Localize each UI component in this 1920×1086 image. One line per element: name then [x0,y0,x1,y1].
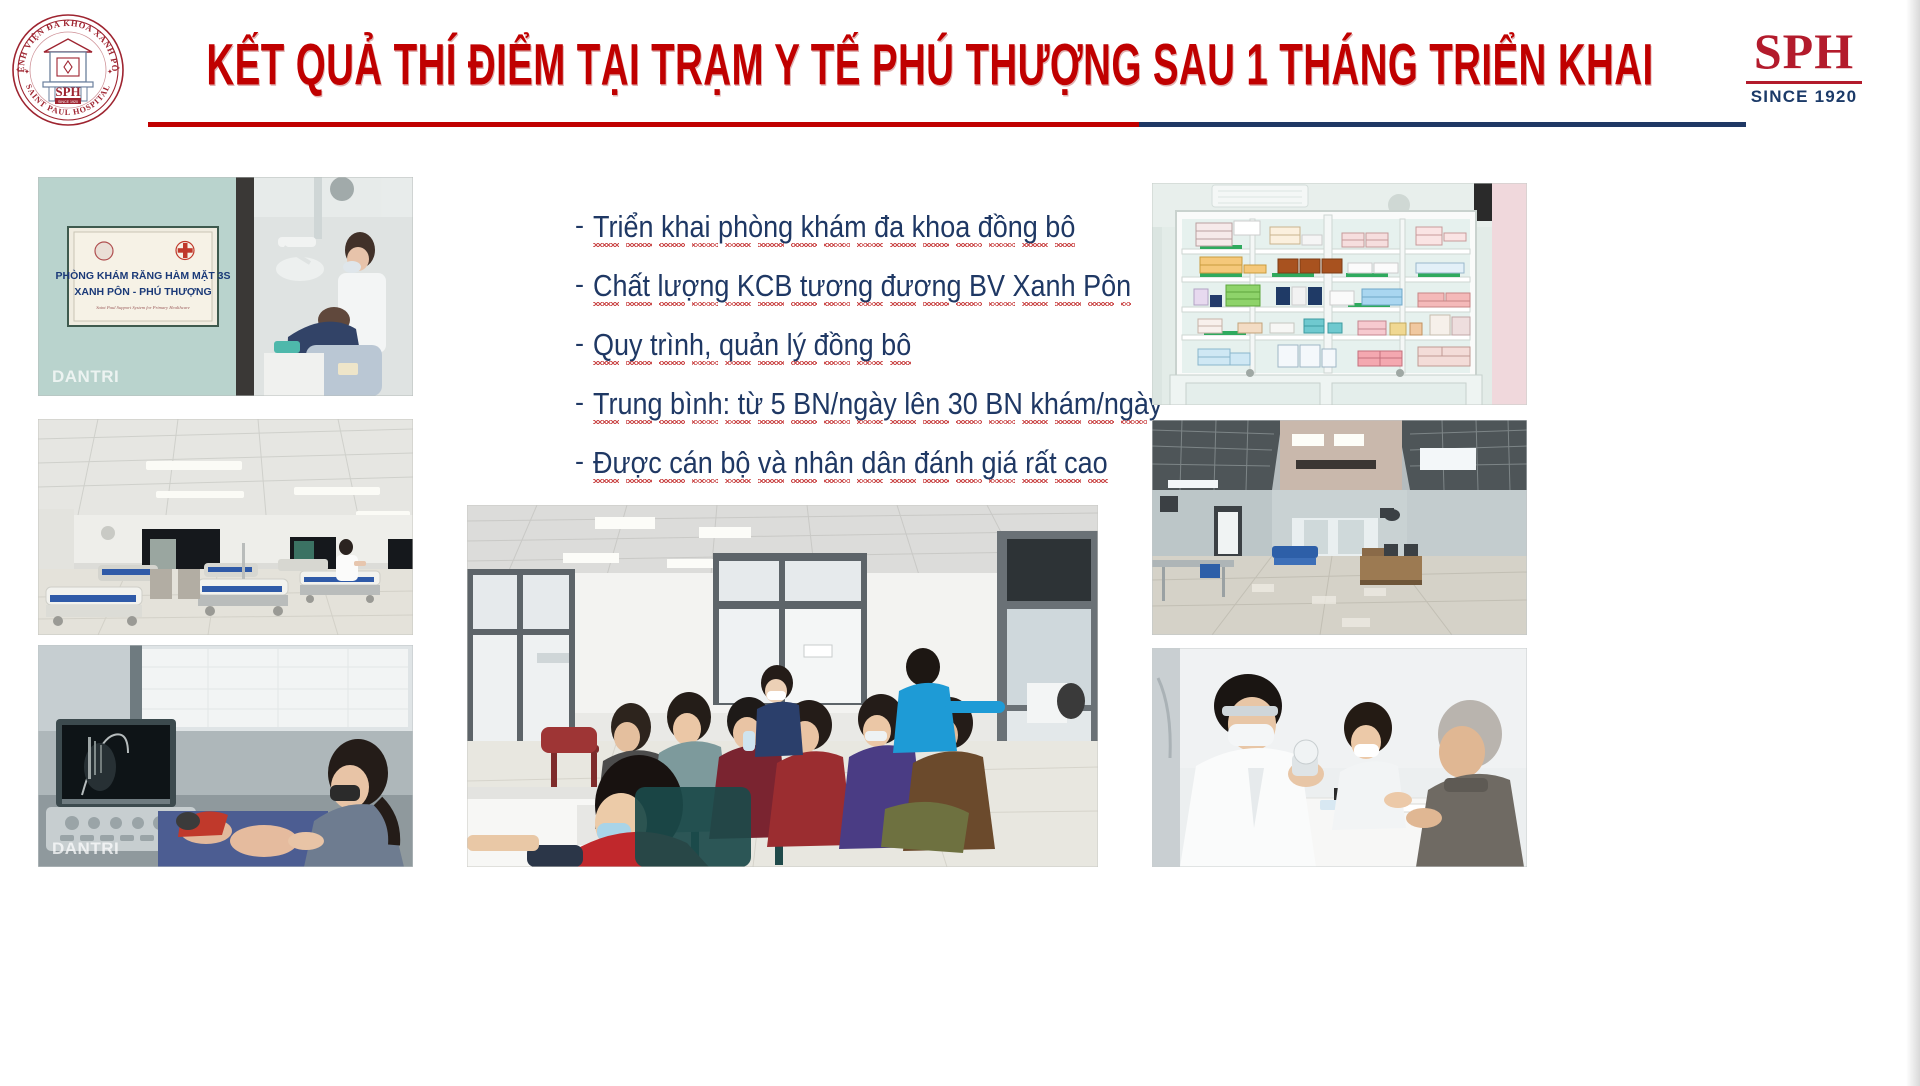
slide-right-edge [1906,0,1920,1086]
svg-text:SINCE 1920: SINCE 1920 [58,100,78,104]
bullet-dash: - [575,208,584,242]
sph-mark-text: SPH [1744,26,1864,76]
bullet-dash: - [575,385,584,419]
spellcheck-underline [593,479,1108,483]
bullet-text: Quy trình, quản lý đồng bô [593,326,911,364]
hospital-seal-logo: BỆNH VIỆN ĐA KHOA XANH PÔN SAINT PAUL HO… [10,12,126,128]
photo-waiting-room [467,505,1098,867]
photo-hospital-ward [38,419,413,635]
bullet-dash: - [575,326,584,360]
spellcheck-underline [593,361,911,365]
bullet-dash: - [575,267,584,301]
svg-text:SPH: SPH [55,84,80,99]
photo-pharmacy-cabinet [1152,183,1527,405]
svg-text:XANH PÔN - PHÚ THƯỢNG: XANH PÔN - PHÚ THƯỢNG [74,285,211,298]
svg-text:Saint Paul Support System for: Saint Paul Support System for Primary He… [96,305,189,310]
svg-text:✦: ✦ [24,68,30,76]
bullet-text: Triển khai phòng khám đa khoa đồng bô [593,208,1075,246]
bullet-text: Chất lượng KCB tương đương BV Xanh Pôn [593,267,1131,305]
header-divider-rule [148,122,1746,127]
bullet-text: Được cán bộ và nhân dân đánh giá rất cao [593,444,1108,482]
spellcheck-underline [593,302,1131,306]
presentation-slide: BỆNH VIỆN ĐA KHOA XANH PÔN SAINT PAUL HO… [0,0,1920,1086]
sph-divider [1746,81,1862,84]
bullet-dash: - [575,444,584,478]
sph-brand-logo: SPH SINCE 1920 [1744,26,1864,107]
photo-ultrasound-exam: DANTRI [38,645,413,867]
photo-consultation [1152,648,1527,867]
spellcheck-underline [593,243,1075,247]
photo-hospital-corridor [1152,420,1527,635]
svg-text:✦: ✦ [107,68,113,76]
slide-header: BỆNH VIỆN ĐA KHOA XANH PÔN SAINT PAUL HO… [0,0,1920,150]
sph-since-text: SINCE 1920 [1744,87,1864,107]
spellcheck-underline [593,420,1162,424]
bullet-text: Trung bình: từ 5 BN/ngày lên 30 BN khám/… [593,385,1162,423]
svg-text:PHÒNG KHÁM RĂNG HÀM MẶT 3S: PHÒNG KHÁM RĂNG HÀM MẶT 3S [56,269,231,282]
photo-dental-clinic-sign: PHÒNG KHÁM RĂNG HÀM MẶT 3S XANH PÔN - PH… [38,177,413,396]
dantri-watermark: DANTRI [52,367,119,387]
page-title: KẾT QUẢ THÍ ĐIỂM TẠI TRẠM Y TẾ PHÚ THƯỢN… [187,32,1672,99]
dantri-watermark: DANTRI [52,839,119,859]
